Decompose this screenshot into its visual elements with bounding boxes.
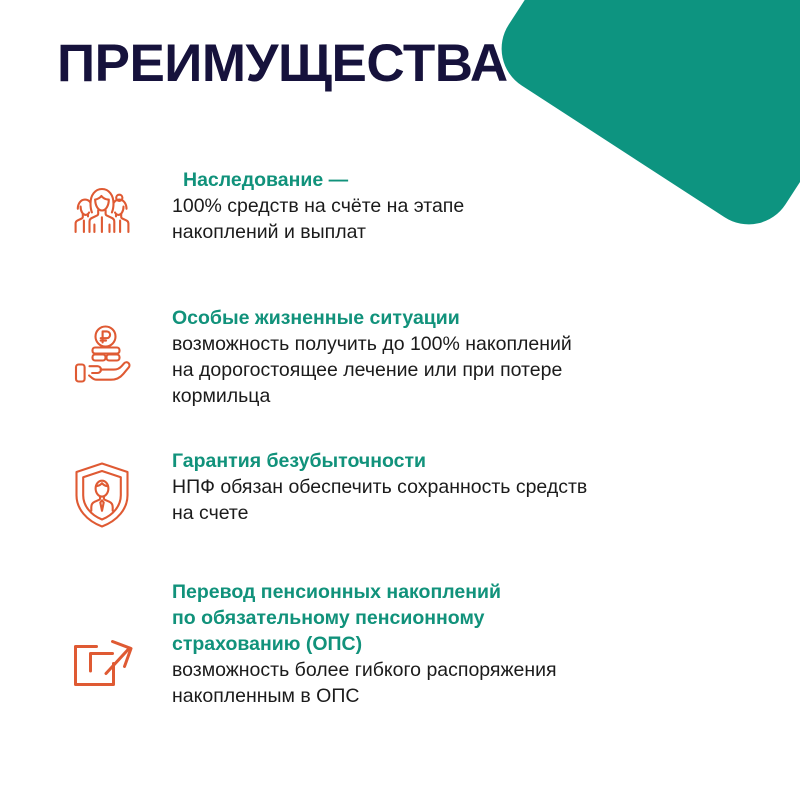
benefit-body: 100% средств на счёте на этапе накоплени…	[172, 194, 692, 246]
benefit-heading: Гарантия безубыточности	[172, 449, 692, 475]
benefit-heading: Перевод пенсионных накоплений по обязате…	[172, 580, 692, 658]
benefit-body: НПФ обязан обеспечить сохранность средст…	[172, 475, 692, 527]
decorative-corner-shape-container	[500, 0, 800, 300]
benefit-text-block: Наследование — 100% средств на счёте на …	[172, 168, 692, 246]
benefit-heading: Наследование —	[183, 168, 692, 194]
benefit-heading: Особые жизненные ситуации	[172, 306, 692, 332]
benefit-text-block: Перевод пенсионных накоплений по обязате…	[172, 580, 692, 710]
slide-root: ПРЕИМУЩЕСТВА	[0, 0, 800, 800]
family-group-icon	[62, 168, 142, 248]
benefit-text-block: Гарантия безубыточности НПФ обязан обесп…	[172, 449, 692, 527]
benefit-text-block: Особые жизненные ситуации возможность по…	[172, 306, 692, 410]
hand-with-ruble-coins-icon	[62, 316, 142, 396]
benefit-body: возможность получить до 100% накоплений …	[172, 332, 692, 410]
page-title: ПРЕИМУЩЕСТВА	[57, 36, 508, 92]
external-link-arrow-icon	[62, 622, 142, 702]
benefit-body: возможность более гибкого распоряжения н…	[172, 658, 692, 710]
shield-with-person-icon	[62, 455, 142, 535]
